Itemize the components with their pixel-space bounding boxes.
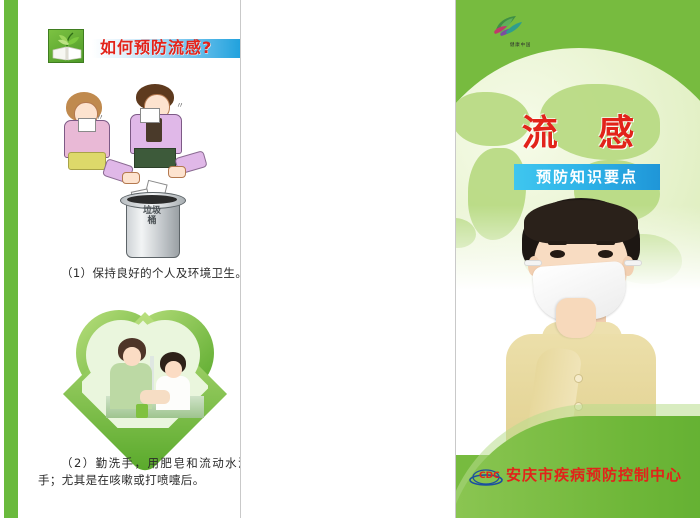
heart-inner <box>82 320 208 428</box>
heart-handwashing-photo <box>70 302 226 446</box>
cover-banner: 预防知识要点 <box>514 164 660 190</box>
organization-name: 安庆市疾病预防控制中心 <box>506 464 682 485</box>
trash-bin-opening <box>127 195 177 204</box>
leaf-bird-logo-caption: 健康中国 <box>510 42 531 48</box>
leaf-bird-logo: 健康中国 <box>486 12 534 50</box>
trash-bin-label: 垃圾桶 <box>142 206 162 226</box>
leaflet-page: 如何预防流感? 〃 〃 <box>0 0 700 518</box>
cdc-logo: CDC <box>468 465 504 487</box>
page-title: 如何预防流感? <box>100 34 212 58</box>
section-header: 如何预防流感? <box>48 29 244 63</box>
left-green-spine <box>4 0 18 518</box>
column-middle: （3）经常开窗通风，适量运动、充分休息，避免过度疲劳。 （4）咳嗽打喷嚏要掩住口… <box>241 0 455 518</box>
tissue-disposal-illustration: 〃 〃 垃圾桶 <box>48 82 248 262</box>
organization-footer: CDC 安庆市疾病预防控制中心 <box>456 462 700 490</box>
handwashing-scene <box>106 334 204 418</box>
svg-text:CDC: CDC <box>479 471 500 481</box>
item-2-paragraph: （2）勤洗手，用肥皂和流动水洗手；尤其是在咳嗽或打喷嚏后。 <box>38 455 250 489</box>
book-sprout-icon <box>48 29 84 63</box>
item-2-text: （2）勤洗手，用肥皂和流动水洗手；尤其是在咳嗽或打喷嚏后。 <box>38 455 250 489</box>
item-1-text: （1）保持良好的个人及环境卫生。 <box>38 265 250 282</box>
cover-banner-text: 预防知识要点 <box>514 164 660 190</box>
column-right-cover: 健康中国 流 感 预防知识要点 <box>456 0 700 518</box>
heart-frame <box>70 310 220 438</box>
column-left: 如何预防流感? 〃 〃 <box>18 0 240 518</box>
cover-title: 流 感 <box>456 104 700 156</box>
item-1-paragraph: （1）保持良好的个人及环境卫生。 <box>38 265 250 282</box>
